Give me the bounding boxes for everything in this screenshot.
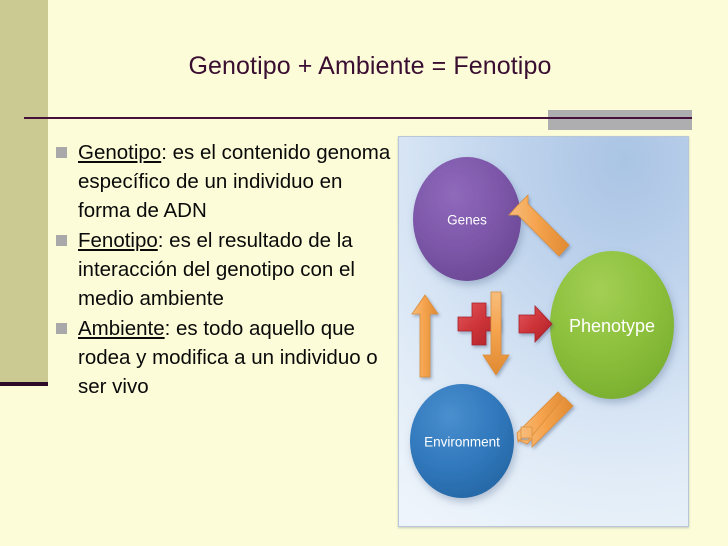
header-divider-rule bbox=[24, 117, 692, 119]
arrow-right-red-icon bbox=[519, 306, 552, 342]
node-genes: Genes bbox=[413, 157, 521, 281]
header-gray-tab bbox=[548, 110, 692, 130]
bullet-text: Ambiente: es todo aquello que rodea y mo… bbox=[78, 314, 396, 401]
slide-title: Genotipo + Ambiente = Fenotipo bbox=[48, 52, 692, 81]
arrow-down-shape bbox=[483, 292, 509, 375]
node-environment: Environment bbox=[410, 384, 514, 498]
list-item: Fenotipo: es el resultado de la interacc… bbox=[56, 226, 396, 313]
bullet-square-icon bbox=[56, 235, 67, 246]
bullet-term: Genotipo bbox=[78, 141, 161, 164]
bullet-text: Genotipo: es el contenido genoma específ… bbox=[78, 138, 396, 225]
arrow-right-red-shape bbox=[519, 306, 552, 342]
node-phenotype: Phenotype bbox=[550, 251, 674, 399]
arrow-up-icon bbox=[412, 295, 438, 377]
environment-label: Environment bbox=[424, 435, 500, 450]
genes-label: Genes bbox=[447, 213, 487, 228]
diagram-canvas: Genes Phenotype Environment bbox=[399, 137, 688, 526]
list-item: Genotipo: es el contenido genoma específ… bbox=[56, 138, 396, 225]
list-item: Ambiente: es todo aquello que rodea y mo… bbox=[56, 314, 396, 401]
left-accent-rule bbox=[0, 382, 48, 386]
genotype-phenotype-diagram: Genes Phenotype Environment bbox=[398, 136, 689, 527]
left-accent-band bbox=[0, 0, 48, 382]
bullet-term: Ambiente bbox=[78, 317, 165, 340]
arrow-diagonal-environment-icon bbox=[517, 392, 573, 447]
bullet-text: Fenotipo: es el resultado de la interacc… bbox=[78, 226, 396, 313]
bullet-term: Fenotipo bbox=[78, 229, 158, 252]
bullet-list: Genotipo: es el contenido genoma específ… bbox=[56, 138, 396, 402]
arrow-down-icon bbox=[483, 292, 509, 375]
slide-canvas: Genotipo + Ambiente = Fenotipo Genotipo:… bbox=[0, 0, 728, 546]
phenotype-label: Phenotype bbox=[569, 316, 655, 336]
arrow-up-shape bbox=[412, 295, 438, 377]
bullet-square-icon bbox=[56, 147, 67, 158]
bullet-square-icon bbox=[56, 323, 67, 334]
